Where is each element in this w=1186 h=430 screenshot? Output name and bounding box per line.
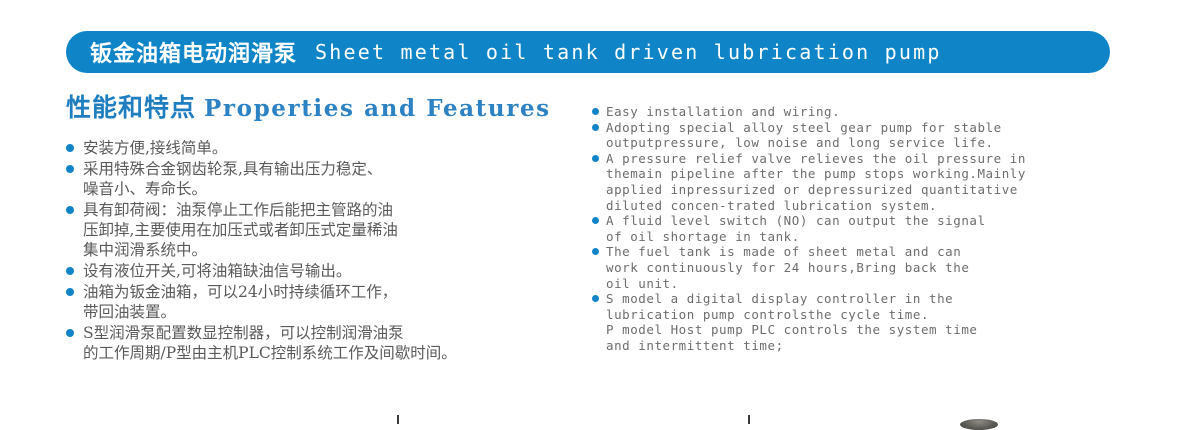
- bullet-dot-icon: [592, 124, 599, 131]
- list-item: S model a digital display controller in …: [592, 291, 1132, 353]
- bullet-dot-icon: [592, 295, 599, 302]
- list-item: 安装方便,接线简单。: [66, 138, 572, 158]
- features-column-chinese: 性能和特点Properties and Features 安装方便,接线简单。 …: [66, 88, 572, 364]
- list-item: A fluid level switch (NO) can output the…: [592, 213, 1132, 244]
- list-item: A pressure relief valve relieves the oil…: [592, 151, 1132, 213]
- bullet-dot-icon: [66, 329, 74, 337]
- list-item: Adopting special alloy steel gear pump f…: [592, 120, 1132, 151]
- banner-title-english: Sheet metal oil tank driven lubrication …: [315, 40, 942, 64]
- feature-list-chinese: 安装方便,接线简单。 采用特殊合金钢齿轮泵,具有输出压力稳定、 噪音小、寿命长。…: [66, 138, 572, 363]
- bullet-dot-icon: [66, 144, 74, 152]
- bullet-dot-icon: [592, 108, 599, 115]
- product-image-tick-right: [748, 415, 750, 424]
- list-item-text: S model a digital display controller in …: [606, 291, 1132, 353]
- bullet-dot-icon: [592, 217, 599, 224]
- list-item: S型润滑泵配置数显控制器，可以控制润滑油泵 的工作周期/P型由主机PLC控制系统…: [66, 323, 572, 363]
- bullet-dot-icon: [592, 155, 599, 162]
- page-title-banner: 钣金油箱电动润滑泵 Sheet metal oil tank driven lu…: [66, 31, 1110, 73]
- feature-list-english: Easy installation and wiring. Adopting s…: [592, 104, 1132, 354]
- section-heading: 性能和特点Properties and Features: [66, 88, 572, 124]
- list-item-text: Easy installation and wiring.: [606, 104, 1132, 120]
- section-heading-chinese: 性能和特点: [66, 93, 196, 122]
- list-item: The fuel tank is made of sheet metal and…: [592, 244, 1132, 291]
- list-item-text: Adopting special alloy steel gear pump f…: [606, 120, 1132, 151]
- bullet-dot-icon: [592, 248, 599, 255]
- list-item-text: A fluid level switch (NO) can output the…: [606, 213, 1132, 244]
- list-item-text: 油箱为钣金油箱，可以24小时持续循环工作， 带回油装置。: [83, 282, 572, 322]
- list-item-text: 设有液位开关,可将油箱缺油信号输出。: [83, 261, 572, 281]
- product-image-tick-left: [397, 415, 399, 424]
- product-image-cap-top: [960, 419, 998, 430]
- list-item: 油箱为钣金油箱，可以24小时持续循环工作， 带回油装置。: [66, 282, 572, 322]
- section-heading-english: Properties and Features: [204, 95, 551, 122]
- list-item-text: 安装方便,接线简单。: [83, 138, 572, 158]
- list-item-text: 具有卸荷阀：油泵停止工作后能把主管路的油 压卸掉,主要使用在加压式或者卸压式定量…: [83, 200, 572, 260]
- list-item-text: S型润滑泵配置数显控制器，可以控制润滑油泵 的工作周期/P型由主机PLC控制系统…: [83, 323, 572, 363]
- list-item: 具有卸荷阀：油泵停止工作后能把主管路的油 压卸掉,主要使用在加压式或者卸压式定量…: [66, 200, 572, 260]
- banner-title-chinese: 钣金油箱电动润滑泵: [90, 36, 297, 68]
- list-item: 采用特殊合金钢齿轮泵,具有输出压力稳定、 噪音小、寿命长。: [66, 159, 572, 199]
- features-column-english: Easy installation and wiring. Adopting s…: [592, 104, 1132, 354]
- bullet-dot-icon: [66, 165, 74, 173]
- list-item: Easy installation and wiring.: [592, 104, 1132, 120]
- list-item: 设有液位开关,可将油箱缺油信号输出。: [66, 261, 572, 281]
- list-item-text: 采用特殊合金钢齿轮泵,具有输出压力稳定、 噪音小、寿命长。: [83, 159, 572, 199]
- bullet-dot-icon: [66, 206, 74, 214]
- list-item-text: A pressure relief valve relieves the oil…: [606, 151, 1132, 213]
- bullet-dot-icon: [66, 288, 74, 296]
- bullet-dot-icon: [66, 267, 74, 275]
- list-item-text: The fuel tank is made of sheet metal and…: [606, 244, 1132, 291]
